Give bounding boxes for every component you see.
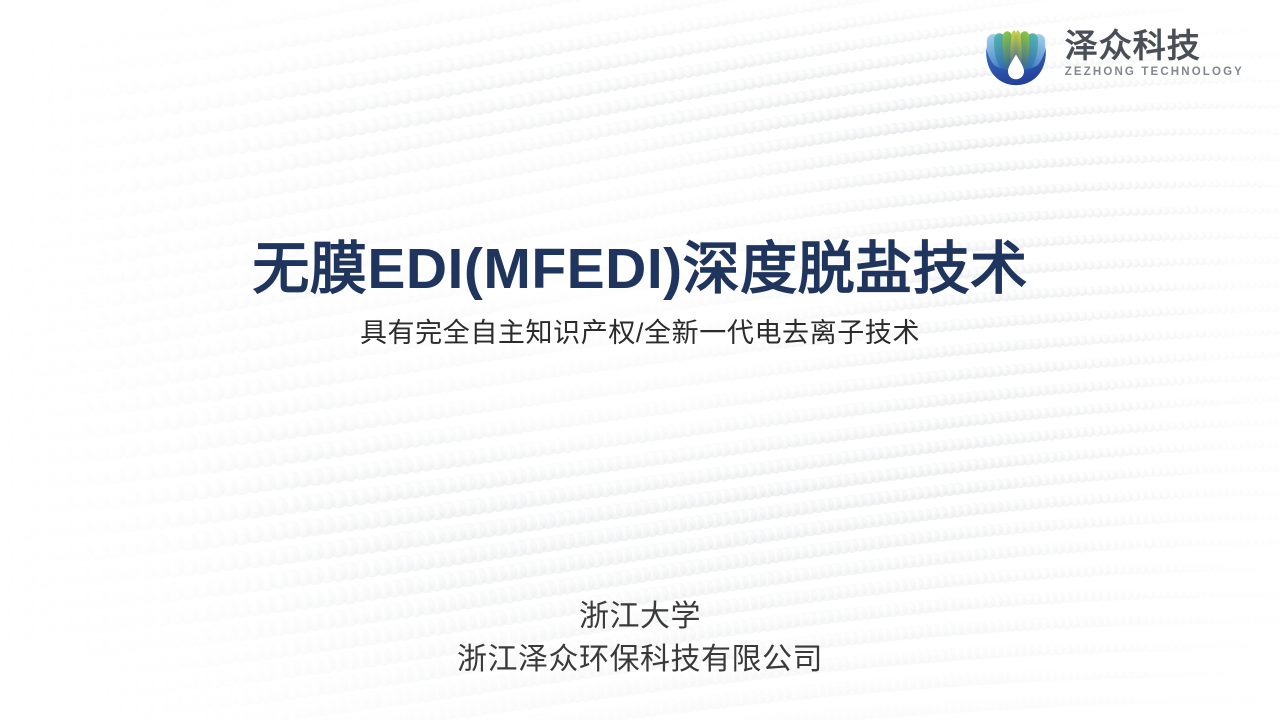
affiliation-block: 浙江大学 浙江泽众环保科技有限公司 (0, 596, 1280, 681)
affiliation-line-university: 浙江大学 (0, 596, 1280, 639)
slide-title: 无膜EDI(MFEDI)深度脱盐技术 (0, 238, 1280, 302)
title-slide: 泽众科技 ZEZHONG TECHNOLOGY 无膜EDI(MFEDI)深度脱盐… (0, 0, 1280, 720)
brand-logo: 泽众科技 ZEZHONG TECHNOLOGY (979, 18, 1244, 88)
brand-name-en: ZEZHONG TECHNOLOGY (1065, 66, 1244, 80)
brand-wordmark: 泽众科技 ZEZHONG TECHNOLOGY (1065, 26, 1244, 80)
slide-subtitle: 具有完全自主知识产权/全新一代电去离子技术 (0, 316, 1280, 351)
brand-name-cn: 泽众科技 (1065, 28, 1201, 64)
lotus-waterdrop-logo-icon (979, 18, 1053, 88)
affiliation-line-company: 浙江泽众环保科技有限公司 (0, 639, 1280, 682)
headline-block: 无膜EDI(MFEDI)深度脱盐技术 具有完全自主知识产权/全新一代电去离子技术 (0, 238, 1280, 351)
